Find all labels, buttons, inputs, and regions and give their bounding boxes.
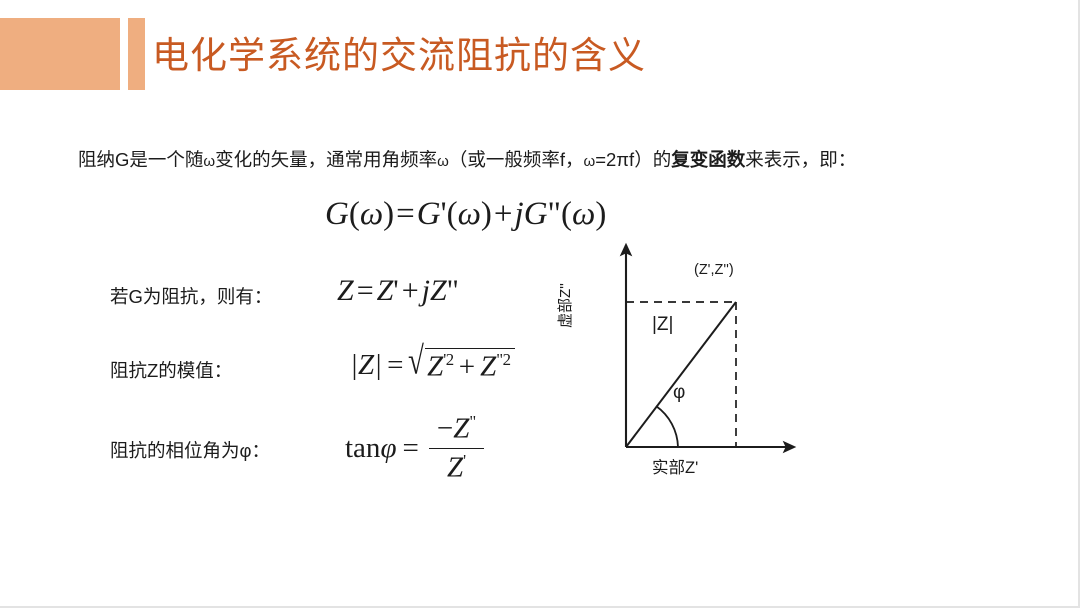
equation-modulus: |Z|=√Z'2+Z"2 [350,348,515,384]
equation-phase: tanφ=−Z"Z' [345,412,484,484]
omega-symbol-3: ω [583,153,595,170]
eq-mod-equals: = [382,349,408,382]
eq-mod-term1-sup: '2 [443,350,453,369]
eq-tan-num-sup: " [469,412,475,431]
radicand: Z'2+Z"2 [425,348,514,384]
fraction-denominator: Z' [439,449,474,485]
eq-tan-fn: tan [345,432,380,465]
equation-main: G(ω)=G'(ω)+jG"(ω) [325,192,606,236]
eq-main-j: j [515,196,524,232]
eq-main-plus: + [492,196,515,232]
label-impedance: 若G为阻抗，则有： [110,283,272,309]
slide-canvas: 电化学系统的交流阻抗的含义 阻纳G是一个随ω变化的矢量，通常用角频率ω（或一般频… [0,0,1080,608]
intro-part-2: 变化的矢量，通常用角频率 [215,149,437,170]
fraction-numerator: −Z" [429,412,484,449]
y-axis-label: 虚部Z'' [554,283,575,328]
eq-main-rhs2-arg: ω [572,196,595,232]
x-axis-label: 实部Z' [652,454,698,478]
intro-part-1: 阻纳G是一个随 [78,149,203,170]
eq-tan-den-sup: ' [463,451,466,470]
label-modulus: 阻抗Z的模值： [110,357,232,383]
eq-z-re: Z [377,274,394,307]
intro-paragraph: 阻纳G是一个随ω变化的矢量，通常用角频率ω（或一般频率f，ω=2πf）的复变函数… [78,146,856,176]
eq-mod-bar-right: | [374,349,382,382]
phasor-diagram-svg [560,232,820,487]
radical-sign: √ [408,345,424,386]
eq-tan-minus: − [437,413,453,445]
angle-label: φ [673,382,685,404]
eq-z-equals: = [354,274,377,307]
eq-tan-phi: φ [380,432,396,465]
phasor-diagram: (Z',Z'') |Z| φ 实部Z' 虚部Z'' [560,232,820,487]
intro-part-5: 来表示，即： [745,149,856,170]
eq-mod-bar-left: | [350,349,358,382]
page-title: 电化学系统的交流阻抗的含义 [152,32,646,80]
eq-tan-den: Z [447,451,463,483]
eq-tan-num: Z [453,413,469,445]
eq-mod-lhs: Z [358,349,374,382]
eq-mod-term2-sup: "2 [496,350,510,369]
radical-group: √Z'2+Z"2 [408,348,514,384]
title-accent-bar [128,18,145,90]
impedance-vector [626,302,736,447]
eq-mod-term1: Z [427,351,443,383]
fraction: −Z"Z' [429,412,484,484]
intro-bold-term: 复变函数 [671,149,745,170]
eq-z-j: j [422,274,430,307]
omega-symbol-2: ω [437,153,449,170]
eq-z-plus: + [399,274,422,307]
omega-symbol-1: ω [203,153,215,170]
eq-mod-plus: + [454,351,480,383]
eq-main-lhs-arg: ω [360,196,383,232]
eq-z-im: Z [430,274,447,307]
eq-main-equals: = [394,196,417,232]
eq-main-rhs2-fn: G [524,196,548,232]
intro-part-3: （或一般频率f， [449,149,584,170]
title-accent-square [0,18,120,90]
eq-mod-term2: Z [480,351,496,383]
eq-z-im-prime: " [447,274,459,307]
eq-main-rhs2-prime: " [548,196,561,232]
label-phase: 阻抗的相位角为φ： [110,437,270,463]
eq-main-lhs-fn: G [325,196,349,232]
eq-main-rhs1-arg: ω [458,196,481,232]
equation-impedance: Z=Z'+jZ" [337,274,459,308]
intro-part-4: =2πf）的 [595,149,671,170]
eq-tan-equals: = [396,432,424,465]
point-coordinate-label: (Z',Z'') [694,262,734,278]
eq-z-lhs: Z [337,274,354,307]
modulus-label: |Z| [652,314,673,336]
eq-main-rhs1-fn: G [417,196,441,232]
eq-z-re-prime: ' [393,274,398,307]
angle-arc [656,406,678,447]
